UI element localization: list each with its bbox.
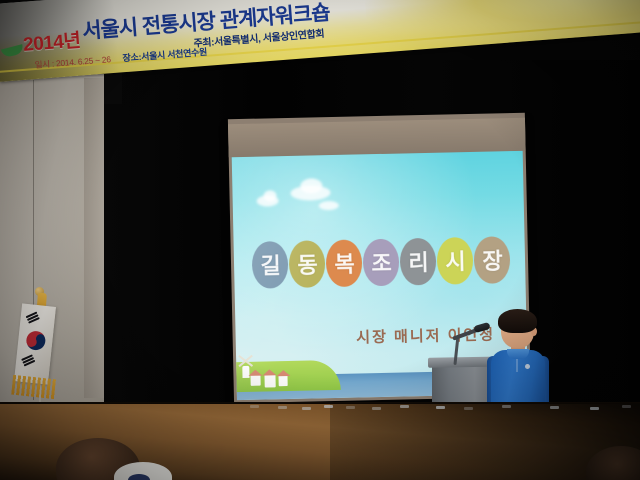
floor-reflection — [436, 406, 445, 409]
slide-title-char-5: 리 — [400, 237, 437, 285]
floor-reflection — [400, 405, 409, 408]
floor-reflection — [622, 405, 631, 408]
flag-fringe — [11, 375, 57, 399]
slide-title-char-7: 장 — [473, 236, 510, 284]
taeguk-icon — [23, 328, 48, 353]
floor-reflection — [324, 405, 333, 408]
slide-title-char-4: 조 — [363, 238, 400, 286]
slide-title-char-2: 동 — [289, 240, 326, 288]
hair — [498, 309, 537, 333]
audience-cap — [128, 474, 150, 480]
floor-reflection — [302, 407, 311, 410]
auditorium-photo: 2014년 서울시 전통시장 관계자워크숍 주최:서울특별시, 서울상인연합회 … — [0, 0, 640, 480]
flag-cloth — [14, 303, 56, 384]
slide-title: 길동복조리시장 — [245, 233, 516, 291]
floor-reflection — [250, 405, 259, 408]
floor-reflection — [550, 406, 559, 409]
floor-reflection — [590, 407, 599, 410]
floor-reflection — [346, 406, 355, 409]
floor-reflection — [372, 407, 381, 410]
banner-year: 2014년 — [22, 26, 81, 57]
trigram-icon — [21, 354, 35, 366]
slide-title-char-6: 시 — [437, 236, 474, 284]
house-icon — [250, 375, 260, 386]
floor-reflection — [278, 406, 287, 409]
floor-reflections — [250, 404, 640, 414]
house-icon — [264, 374, 275, 387]
floor-reflection — [464, 407, 473, 410]
shirt-logo-icon — [525, 364, 530, 369]
banner-place: 장소:서울시 서천연수원 — [122, 45, 207, 64]
slide-title-char-1: 길 — [252, 241, 289, 289]
trigram-icon — [26, 312, 40, 324]
slide-title-char-3: 복 — [326, 239, 363, 287]
floor-reflection — [502, 405, 511, 408]
house-icon — [278, 375, 287, 386]
